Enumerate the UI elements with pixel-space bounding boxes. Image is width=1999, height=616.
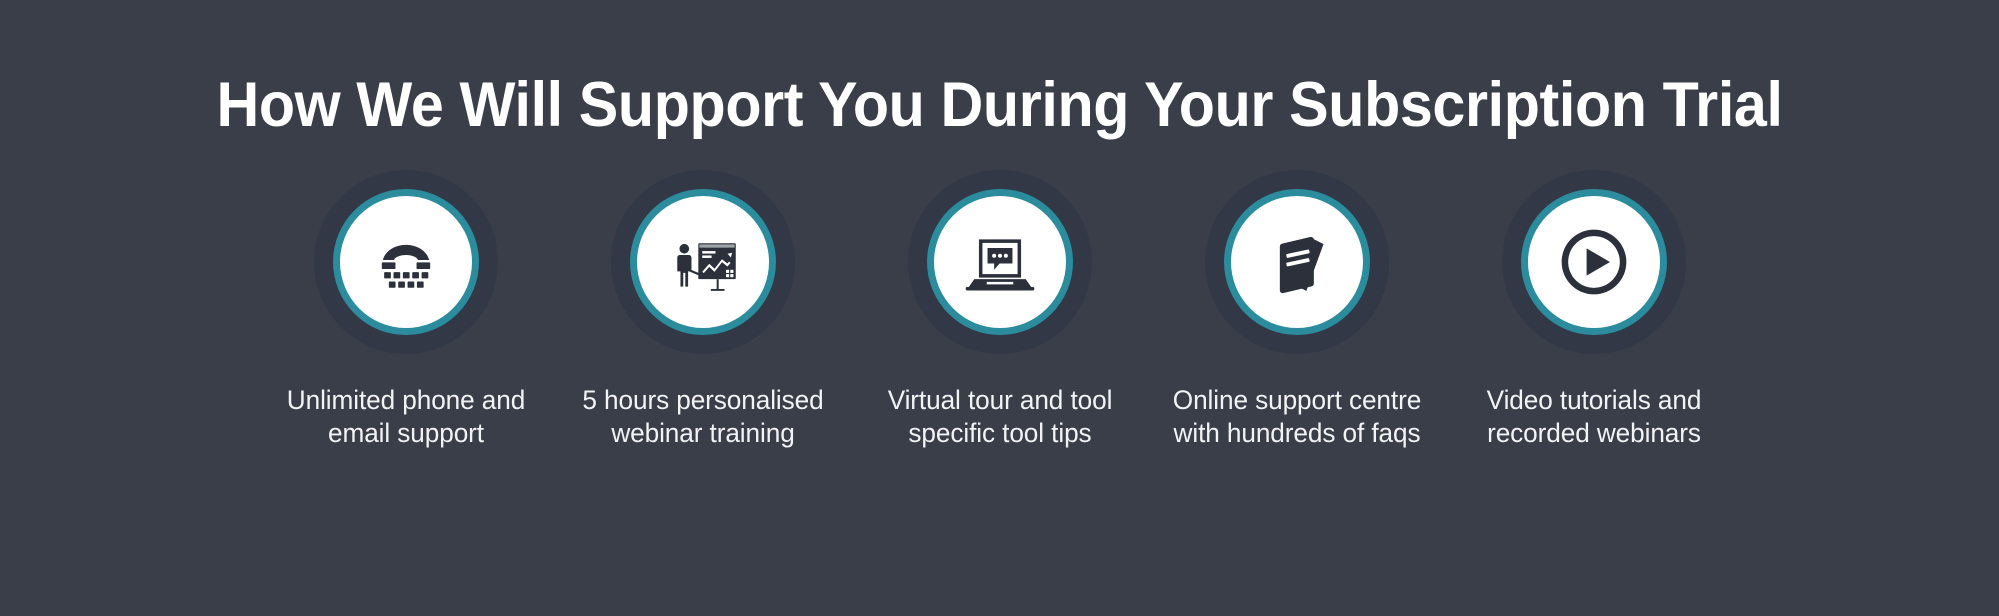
feature-caption-line-1: Video tutorials and [1458, 384, 1730, 417]
feature-item-video-tutorials: Video tutorials and recorded webinars [1445, 170, 1742, 449]
phone-keypad-icon [367, 223, 445, 301]
badge-disc [637, 196, 769, 328]
feature-badge [1205, 170, 1389, 354]
feature-caption-line-1: Online support centre [1161, 384, 1433, 417]
feature-badge [1502, 170, 1686, 354]
feature-caption-line-2: recorded webinars [1458, 417, 1730, 450]
page-title: How We Will Support You During Your Subs… [60, 68, 1939, 142]
feature-caption-line-1: 5 hours personalised [567, 384, 839, 417]
feature-caption-line-1: Unlimited phone and [270, 384, 542, 417]
badge-disc [1528, 196, 1660, 328]
feature-badge [314, 170, 498, 354]
laptop-chat-bubble-icon [961, 223, 1039, 301]
feature-caption: Online support centre with hundreds of f… [1161, 384, 1433, 449]
feature-caption: Unlimited phone and email support [270, 384, 542, 449]
support-trial-banner: How We Will Support You During Your Subs… [0, 0, 1999, 616]
feature-caption: Video tutorials and recorded webinars [1458, 384, 1730, 449]
feature-caption-line-2: email support [270, 417, 542, 450]
feature-caption: Virtual tour and tool specific tool tips [864, 384, 1136, 449]
badge-disc [934, 196, 1066, 328]
feature-caption-line-1: Virtual tour and tool [864, 384, 1136, 417]
feature-caption-line-2: webinar training [567, 417, 839, 450]
badge-disc [1231, 196, 1363, 328]
feature-badge [611, 170, 795, 354]
feature-list: Unlimited phone and email support [0, 170, 1999, 449]
feature-item-support-centre: Online support centre with hundreds of f… [1148, 170, 1445, 449]
play-circle-icon [1555, 223, 1633, 301]
book-icon [1258, 223, 1336, 301]
feature-item-webinar-training: 5 hours personalised webinar training [554, 170, 851, 449]
badge-disc [340, 196, 472, 328]
feature-item-phone-support: Unlimited phone and email support [257, 170, 554, 449]
feature-badge [908, 170, 1092, 354]
presenter-whiteboard-icon [664, 223, 742, 301]
feature-caption-line-2: with hundreds of faqs [1161, 417, 1433, 450]
feature-caption: 5 hours personalised webinar training [567, 384, 839, 449]
feature-caption-line-2: specific tool tips [864, 417, 1136, 450]
feature-item-virtual-tour: Virtual tour and tool specific tool tips [851, 170, 1148, 449]
